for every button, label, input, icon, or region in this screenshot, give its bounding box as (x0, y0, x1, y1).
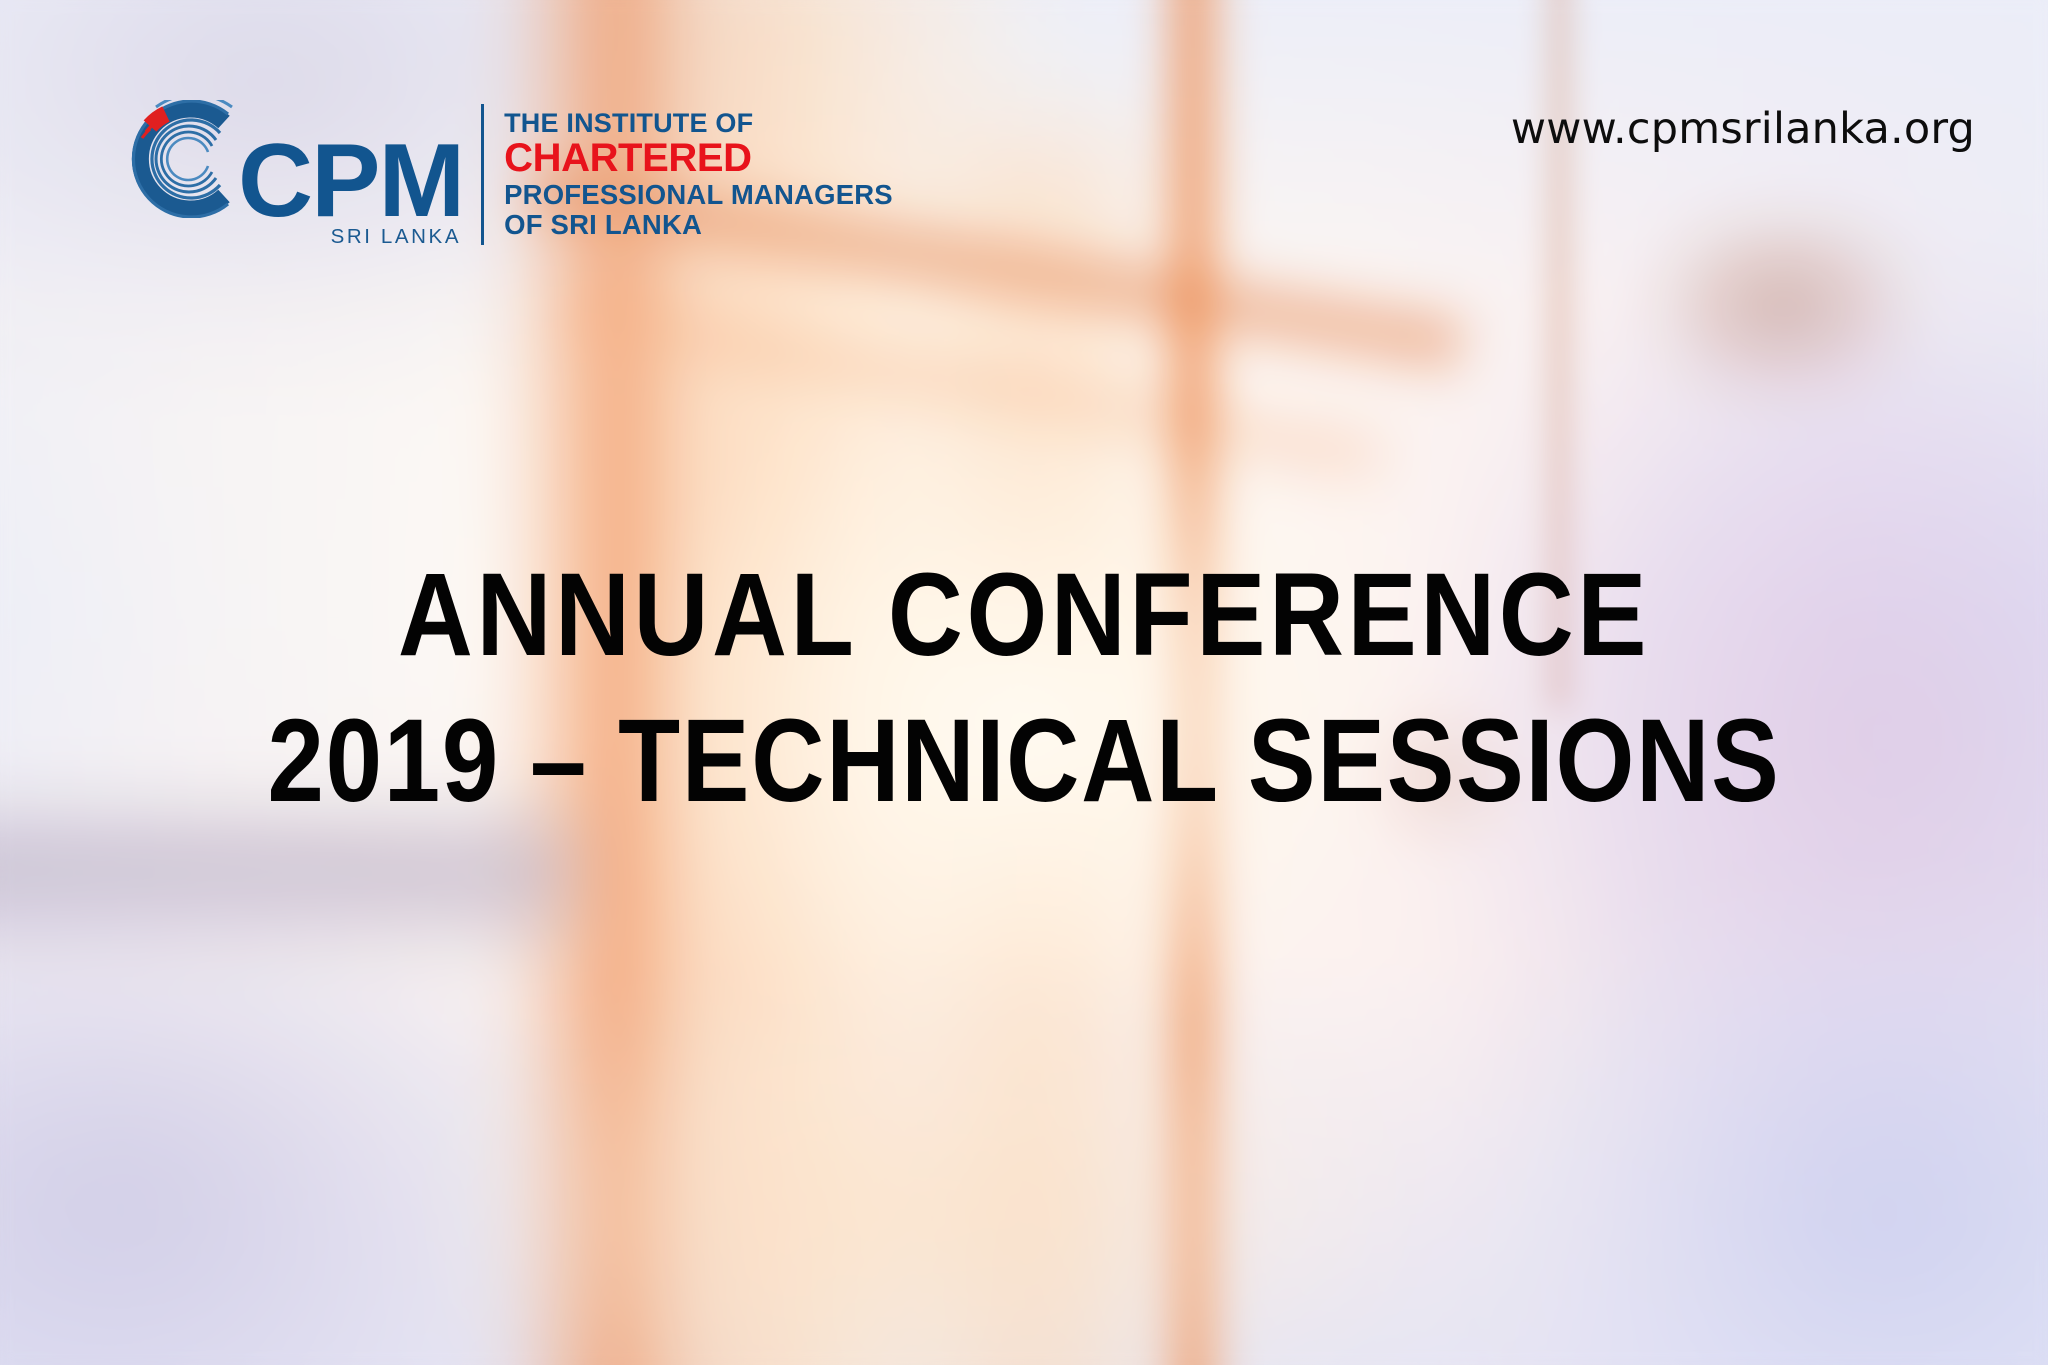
background-beam-diagonal-2 (569, 287, 1385, 483)
logo-line-institute: THE INSTITUTE OF (504, 109, 893, 138)
cpm-arc-mark-icon (116, 100, 248, 223)
logo-line-srilanka: OF SRI LANKA (504, 210, 893, 240)
website-url[interactable]: www.cpmsrilanka.org (1511, 104, 1975, 154)
logo-line-chartered: CHARTERED (504, 138, 893, 180)
title-slide: CPM SRI LANKA THE INSTITUTE OF CHARTERED… (0, 0, 2048, 1365)
background-blob-rust (1659, 218, 1905, 395)
background-haze-bottom-right (1516, 928, 2048, 1365)
logo-text-block: THE INSTITUTE OF CHARTERED PROFESSIONAL … (504, 109, 893, 240)
background-floor-glow (451, 1010, 1393, 1365)
cpm-wordmark: CPM (238, 140, 463, 223)
logo-divider (481, 104, 484, 245)
background-haze-bottom-left (0, 901, 532, 1365)
cpm-logo[interactable]: CPM SRI LANKA THE INSTITUTE OF CHARTERED… (116, 100, 893, 249)
cpm-logo-mark: CPM SRI LANKA (116, 100, 463, 249)
slide-title: ANNUAL CONFERENCE 2019 – TECHNICAL SESSI… (0, 556, 2048, 820)
logo-line-professional: PROFESSIONAL MANAGERS (504, 180, 893, 210)
title-line-secondary: 2019 – TECHNICAL SESSIONS (143, 702, 1904, 820)
title-line-primary: ANNUAL CONFERENCE (123, 556, 1925, 674)
cpm-wordmark-subtitle: SRI LANKA (331, 225, 462, 249)
